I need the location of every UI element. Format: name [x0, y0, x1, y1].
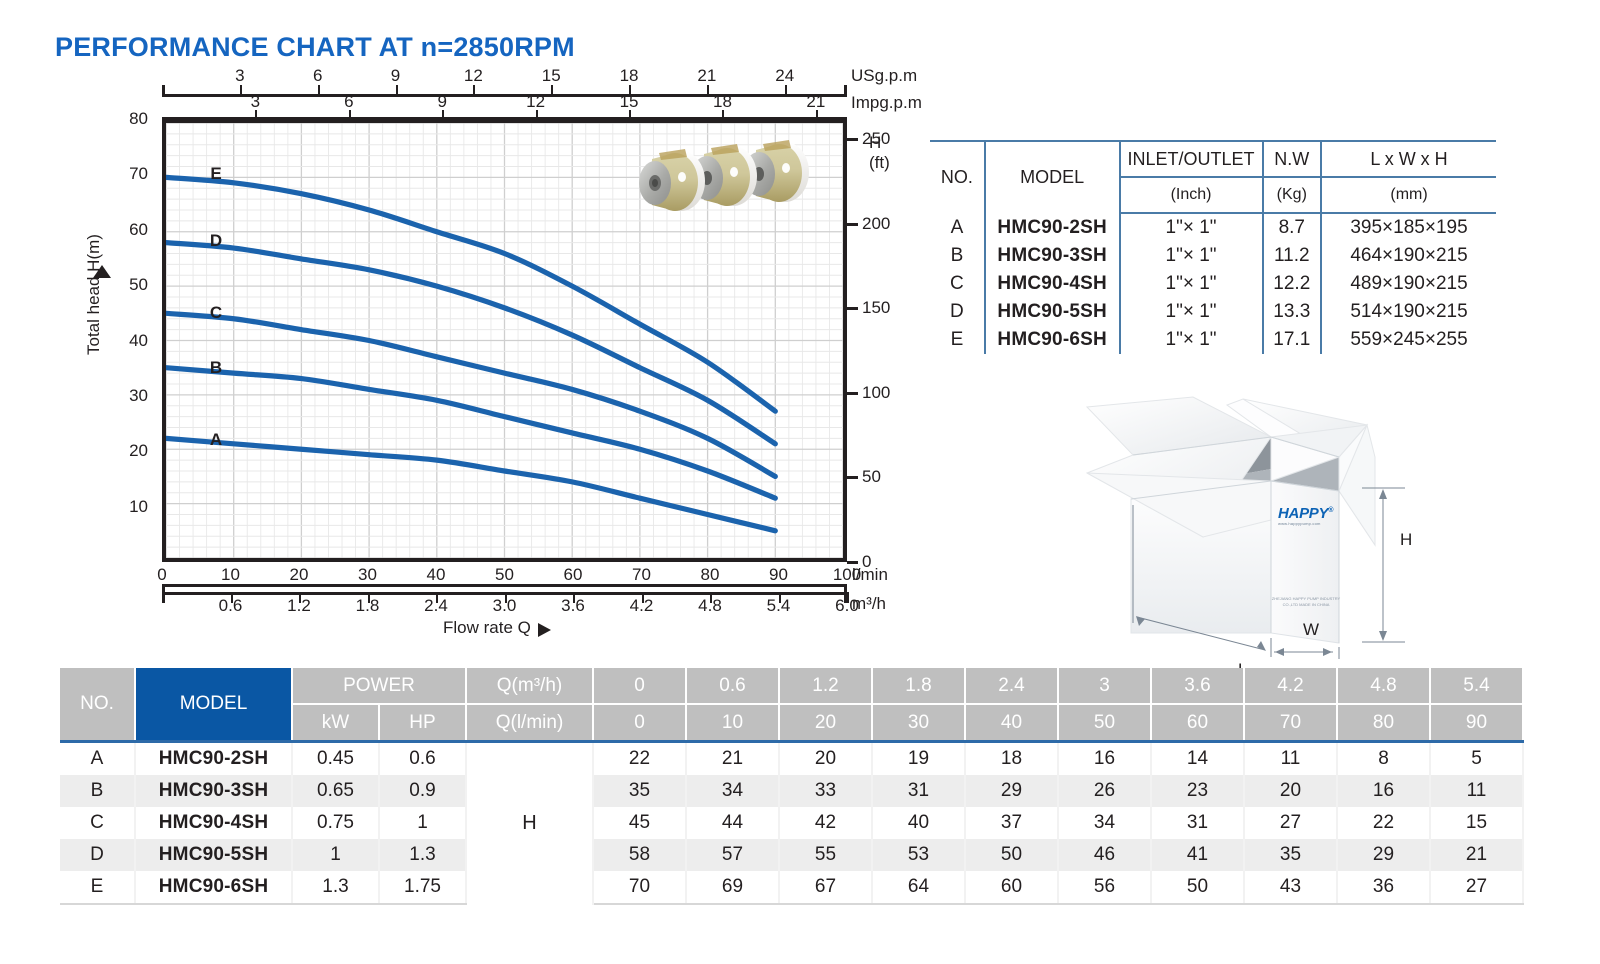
perf-header-kw: kW	[292, 704, 379, 742]
perf-cell-head: 15	[1430, 807, 1523, 839]
perf-cell-no: C	[60, 807, 135, 839]
m3h-tick-label: 6.0	[835, 596, 859, 616]
spec-cell-no: E	[930, 326, 985, 354]
perf-cell-head: 37	[965, 807, 1058, 839]
perf-cell-model: HMC90-3SH	[135, 775, 292, 807]
perf-cell-head: 45	[593, 807, 686, 839]
perf-header-flow-lmin: 60	[1151, 704, 1244, 742]
perf-header-q-m3h: Q(m³/h)	[466, 668, 593, 704]
usgpm-tick-label: 6	[313, 66, 322, 86]
perf-cell-kw: 0.45	[292, 742, 379, 776]
spec-cell-model: HMC90-2SH	[985, 213, 1120, 242]
perf-cell-head: 34	[686, 775, 779, 807]
perf-cell-head: 36	[1337, 871, 1430, 904]
x-axis-title: Flow rate Q	[443, 618, 531, 638]
perf-header-flow-m3h: 5.4	[1430, 668, 1523, 704]
perf-table-body: AHMC90-2SH0.450.6H222120191816141185BHMC…	[60, 742, 1523, 905]
y-right-tick	[847, 307, 858, 310]
spec-table-row: EHMC90-6SH1"× 1"17.1559×245×255	[930, 326, 1496, 354]
spec-cell-model: HMC90-6SH	[985, 326, 1120, 354]
perf-cell-head: 8	[1337, 742, 1430, 776]
y-right-tick-label: 50	[862, 467, 881, 487]
y-left-tick-label: 60	[100, 220, 148, 240]
m3h-tick-label: 4.2	[630, 596, 654, 616]
lmin-tick-label: 40	[427, 565, 446, 585]
head-ft-axis-label: H (ft)	[869, 133, 890, 173]
m3h-tick-label: 1.8	[356, 596, 380, 616]
perf-cell-head: 57	[686, 839, 779, 871]
spec-table-row: AHMC90-2SH1"× 1"8.7395×185×195	[930, 213, 1496, 242]
perf-cell-head: 11	[1244, 742, 1337, 776]
lmin-tick-label: 50	[495, 565, 514, 585]
performance-data-table: NO. MODEL POWER Q(m³/h) 00.61.21.82.433.…	[60, 668, 1524, 905]
spec-cell-nw: 12.2	[1263, 270, 1321, 298]
perf-header-flow-m3h: 4.2	[1244, 668, 1337, 704]
m3h-tick-label: 3.0	[493, 596, 517, 616]
impgpm-tick-label: 9	[437, 92, 446, 112]
perf-header-row-1: NO. MODEL POWER Q(m³/h) 00.61.21.82.433.…	[60, 668, 1523, 704]
perf-cell-head: 21	[1430, 839, 1523, 871]
perf-cell-head: 20	[779, 742, 872, 776]
perf-cell-head: 42	[779, 807, 872, 839]
usgpm-axis-cap-right	[844, 85, 847, 97]
perf-header-flow-lmin: 80	[1337, 704, 1430, 742]
perf-cell-kw: 1	[292, 839, 379, 871]
impgpm-tick-label: 6	[344, 92, 353, 112]
perf-header-flow-lmin: 10	[686, 704, 779, 742]
spec-cell-no: A	[930, 213, 985, 242]
m3h-tick-label: 0.6	[219, 596, 243, 616]
curve-D	[166, 243, 775, 444]
perf-header-no: NO.	[60, 668, 135, 742]
carton-brand-registered-icon: ®	[1328, 507, 1333, 514]
spec-header-nw: N.W	[1263, 141, 1321, 177]
carton-brand-text: HAPPY	[1278, 505, 1328, 522]
perf-cell-head: 14	[1151, 742, 1244, 776]
spec-cell-nw: 17.1	[1263, 326, 1321, 354]
datasheet-page: PERFORMANCE CHART AT n=2850RPM USg.p.m 3…	[0, 0, 1600, 964]
perf-table-row: AHMC90-2SH0.450.6H222120191816141185	[60, 742, 1523, 776]
impgpm-tick-label: 21	[806, 92, 825, 112]
y-right-tick-label: 150	[862, 298, 890, 318]
perf-cell-hp: 0.6	[379, 742, 466, 776]
lmin-tick-label: 30	[358, 565, 377, 585]
m3h-tick-label: 2.4	[424, 596, 448, 616]
head-ft-unit: (ft)	[869, 153, 890, 172]
y-right-tick	[847, 476, 858, 479]
spec-header-lwh-unit: (mm)	[1321, 177, 1496, 213]
lmin-tick-label: 10	[221, 565, 240, 585]
perf-cell-head: 22	[1337, 807, 1430, 839]
usgpm-tick-label: 18	[620, 66, 639, 86]
perf-cell-head: 40	[872, 807, 965, 839]
spec-cell-model: HMC90-4SH	[985, 270, 1120, 298]
perf-table-row: EHMC90-6SH1.31.7570696764605650433627	[60, 871, 1523, 904]
perf-cell-model: HMC90-5SH	[135, 839, 292, 871]
perf-cell-head: 18	[965, 742, 1058, 776]
perf-header-flow-lmin: 30	[872, 704, 965, 742]
perf-cell-head: 70	[593, 871, 686, 904]
head-ft-h: H	[869, 133, 881, 152]
perf-header-flow-lmin: 70	[1244, 704, 1337, 742]
perf-cell-head: 34	[1058, 807, 1151, 839]
usgpm-tick-label: 3	[235, 66, 244, 86]
usgpm-tick	[707, 85, 709, 97]
carton-illustration	[1075, 395, 1495, 660]
perf-cell-head: 35	[1244, 839, 1337, 871]
spec-cell-nw: 11.2	[1263, 242, 1321, 270]
usgpm-unit-label: USg.p.m	[851, 66, 917, 86]
perf-cell-head: 31	[872, 775, 965, 807]
carton-dim-w: W	[1303, 620, 1319, 640]
perf-cell-head: 16	[1337, 775, 1430, 807]
perf-cell-head: 46	[1058, 839, 1151, 871]
spec-cell-no: B	[930, 242, 985, 270]
perf-cell-head: 19	[872, 742, 965, 776]
perf-cell-kw: 0.75	[292, 807, 379, 839]
usgpm-tick-label: 21	[697, 66, 716, 86]
spec-header-model: MODEL	[985, 141, 1120, 213]
perf-header-flow-m3h: 4.8	[1337, 668, 1430, 704]
perf-header-q-lmin: Q(l/min)	[466, 704, 593, 742]
impgpm-tick-label: 15	[620, 92, 639, 112]
carton-dim-h: H	[1400, 530, 1412, 550]
lmin-tick-label: 80	[701, 565, 720, 585]
perf-cell-head: 27	[1430, 871, 1523, 904]
y-left-tick-label: 10	[100, 497, 148, 517]
perf-cell-head: 64	[872, 871, 965, 904]
m3h-tick-label: 3.6	[561, 596, 585, 616]
perf-table-row: BHMC90-3SH0.650.935343331292623201611	[60, 775, 1523, 807]
impgpm-tick-label: 3	[251, 92, 260, 112]
spec-header-inlet-outlet: INLET/OUTLET	[1120, 141, 1263, 177]
perf-cell-head: 21	[686, 742, 779, 776]
lmin-tick-label: 90	[769, 565, 788, 585]
spec-header-lwh: L x W x H	[1321, 141, 1496, 177]
perf-cell-no: D	[60, 839, 135, 871]
perf-cell-head: 53	[872, 839, 965, 871]
carton-brand-tagline: www.happypump.com	[1278, 521, 1321, 526]
spec-header-no: NO.	[930, 141, 985, 213]
m3h-tick-label: 4.8	[698, 596, 722, 616]
perf-cell-head: 69	[686, 871, 779, 904]
y-left-tick-label: 20	[100, 441, 148, 461]
spec-cell-inlet-outlet: 1"× 1"	[1120, 298, 1263, 326]
perf-header-flow-m3h: 2.4	[965, 668, 1058, 704]
spec-cell-no: D	[930, 298, 985, 326]
spec-header-inlet-outlet-unit: (Inch)	[1120, 177, 1263, 213]
spec-header-row-1: NO. MODEL INLET/OUTLET N.W L x W x H	[930, 141, 1496, 177]
spec-cell-lwh: 489×190×215	[1321, 270, 1496, 298]
m3h-tick-label: 1.2	[287, 596, 311, 616]
spec-cell-model: HMC90-5SH	[985, 298, 1120, 326]
perf-cell-head: 26	[1058, 775, 1151, 807]
y-right-tick	[847, 138, 858, 141]
curve-label-c: C	[210, 303, 222, 323]
usgpm-tick-label: 24	[775, 66, 794, 86]
perf-header-flow-m3h: 0.6	[686, 668, 779, 704]
m3h-tick-label: 5.4	[767, 596, 791, 616]
y-right-tick-label: 200	[862, 214, 890, 234]
perf-cell-head: 67	[779, 871, 872, 904]
usgpm-axis-cap-left	[162, 85, 165, 97]
curve-label-b: B	[210, 358, 222, 378]
usgpm-tick	[473, 85, 475, 97]
perf-header-flow-lmin: 0	[593, 704, 686, 742]
impgpm-tick-label: 18	[713, 92, 732, 112]
performance-chart: USg.p.m 3691215182124 Impg.p.m 369121518…	[0, 0, 930, 660]
impgpm-tick-label: 12	[526, 92, 545, 112]
spec-cell-model: HMC90-3SH	[985, 242, 1120, 270]
perf-cell-head: 55	[779, 839, 872, 871]
perf-cell-model: HMC90-2SH	[135, 742, 292, 776]
lmin-tick-label: 60	[564, 565, 583, 585]
spec-cell-nw: 8.7	[1263, 213, 1321, 242]
perf-cell-head: 33	[779, 775, 872, 807]
perf-cell-head: 22	[593, 742, 686, 776]
perf-cell-model: HMC90-6SH	[135, 871, 292, 904]
perf-cell-hp: 0.9	[379, 775, 466, 807]
perf-table-row: DHMC90-5SH11.358575553504641352921	[60, 839, 1523, 871]
perf-header-flow-m3h: 3.6	[1151, 668, 1244, 704]
perf-cell-head: 31	[1151, 807, 1244, 839]
perf-header-flow-lmin: 90	[1430, 704, 1523, 742]
impgpm-unit-label: Impg.p.m	[851, 93, 922, 113]
perf-cell-head: 50	[965, 839, 1058, 871]
perf-header-flow-m3h: 0	[593, 668, 686, 704]
usgpm-tick	[396, 85, 398, 97]
perf-cell-head: 58	[593, 839, 686, 871]
usgpm-axis-line	[162, 94, 847, 97]
y-left-tick-label: 40	[100, 331, 148, 351]
perf-cell-hp: 1	[379, 807, 466, 839]
lmin-tick-label: 70	[632, 565, 651, 585]
spec-cell-lwh: 464×190×215	[1321, 242, 1496, 270]
perf-cell-kw: 0.65	[292, 775, 379, 807]
perf-cell-head: 16	[1058, 742, 1151, 776]
perf-cell-kw: 1.3	[292, 871, 379, 904]
curve-label-d: D	[210, 231, 222, 251]
spec-cell-no: C	[930, 270, 985, 298]
perf-cell-head: 50	[1151, 871, 1244, 904]
perf-cell-head: 29	[965, 775, 1058, 807]
perf-header-power: POWER	[292, 668, 466, 704]
y-left-tick-label: 30	[100, 386, 148, 406]
perf-cell-hp: 1.75	[379, 871, 466, 904]
perf-table-row: CHMC90-4SH0.75145444240373431272215	[60, 807, 1523, 839]
usgpm-tick	[240, 85, 242, 97]
perf-cell-head: 20	[1244, 775, 1337, 807]
perf-cell-head: 43	[1244, 871, 1337, 904]
lmin-tick-label: 0	[157, 565, 166, 585]
spec-table-body: AHMC90-2SH1"× 1"8.7395×185×195BHMC90-3SH…	[930, 213, 1496, 354]
x-axis-arrow-icon	[538, 623, 551, 637]
perf-cell-no: E	[60, 871, 135, 904]
spec-cell-lwh: 559×245×255	[1321, 326, 1496, 354]
perf-header-flow-m3h: 1.2	[779, 668, 872, 704]
perf-cell-h-label: H	[466, 742, 593, 905]
usgpm-tick-label: 15	[542, 66, 561, 86]
spec-table-row: BHMC90-3SH1"× 1"11.2464×190×215	[930, 242, 1496, 270]
perf-cell-hp: 1.3	[379, 839, 466, 871]
perf-header-flow-lmin: 50	[1058, 704, 1151, 742]
perf-cell-no: A	[60, 742, 135, 776]
perf-cell-head: 56	[1058, 871, 1151, 904]
curve-label-a: A	[210, 430, 222, 450]
y-left-tick-label: 50	[100, 275, 148, 295]
perf-cell-head: 41	[1151, 839, 1244, 871]
carton-brand-logo: HAPPY®	[1278, 505, 1333, 522]
spec-header-nw-unit: (Kg)	[1263, 177, 1321, 213]
perf-cell-no: B	[60, 775, 135, 807]
spec-cell-inlet-outlet: 1"× 1"	[1120, 213, 1263, 242]
y-right-tick-label: 100	[862, 383, 890, 403]
curve-A	[166, 438, 775, 530]
spec-table-row: CHMC90-4SH1"× 1"12.2489×190×215	[930, 270, 1496, 298]
y-left-tick-label: 70	[100, 164, 148, 184]
perf-cell-head: 5	[1430, 742, 1523, 776]
perf-cell-model: HMC90-4SH	[135, 807, 292, 839]
spec-cell-nw: 13.3	[1263, 298, 1321, 326]
lmin-tick-label: 100	[833, 565, 861, 585]
perf-header-hp: HP	[379, 704, 466, 742]
perf-cell-head: 11	[1430, 775, 1523, 807]
perf-header-model: MODEL	[135, 668, 292, 742]
perf-cell-head: 60	[965, 871, 1058, 904]
usgpm-tick-label: 9	[391, 66, 400, 86]
y-right-tick	[847, 223, 858, 226]
perf-cell-head: 44	[686, 807, 779, 839]
perf-cell-head: 35	[593, 775, 686, 807]
specification-table: NO. MODEL INLET/OUTLET N.W L x W x H (In…	[930, 140, 1496, 354]
spec-cell-lwh: 395×185×195	[1321, 213, 1496, 242]
y-left-tick-label: 80	[100, 109, 148, 129]
m3h-axis-cap-left	[162, 592, 165, 603]
curve-C	[166, 313, 775, 476]
carton-fineprint: ZHEJIANG HAPPY PUMP INDUSTRY CO.,LTD MAD…	[1267, 596, 1345, 608]
y-axis-title: Total head H(m)	[84, 234, 104, 355]
spec-cell-inlet-outlet: 1"× 1"	[1120, 270, 1263, 298]
y-right-tick	[847, 392, 858, 395]
perf-header-flow-m3h: 3	[1058, 668, 1151, 704]
impeller-photo	[613, 128, 818, 220]
spec-cell-inlet-outlet: 1"× 1"	[1120, 242, 1263, 270]
y-right-tick	[847, 561, 858, 564]
perf-cell-head: 29	[1337, 839, 1430, 871]
usgpm-tick	[785, 85, 787, 97]
usgpm-tick	[551, 85, 553, 97]
perf-cell-head: 27	[1244, 807, 1337, 839]
usgpm-tick-label: 12	[464, 66, 483, 86]
perf-header-flow-m3h: 1.8	[872, 668, 965, 704]
usgpm-tick	[318, 85, 320, 97]
curve-label-e: E	[210, 164, 221, 184]
perf-cell-head: 23	[1151, 775, 1244, 807]
spec-table-row: DHMC90-5SH1"× 1"13.3514×190×215	[930, 298, 1496, 326]
spec-cell-lwh: 514×190×215	[1321, 298, 1496, 326]
spec-cell-inlet-outlet: 1"× 1"	[1120, 326, 1263, 354]
perf-header-flow-lmin: 40	[965, 704, 1058, 742]
lmin-tick-label: 20	[290, 565, 309, 585]
perf-header-flow-lmin: 20	[779, 704, 872, 742]
